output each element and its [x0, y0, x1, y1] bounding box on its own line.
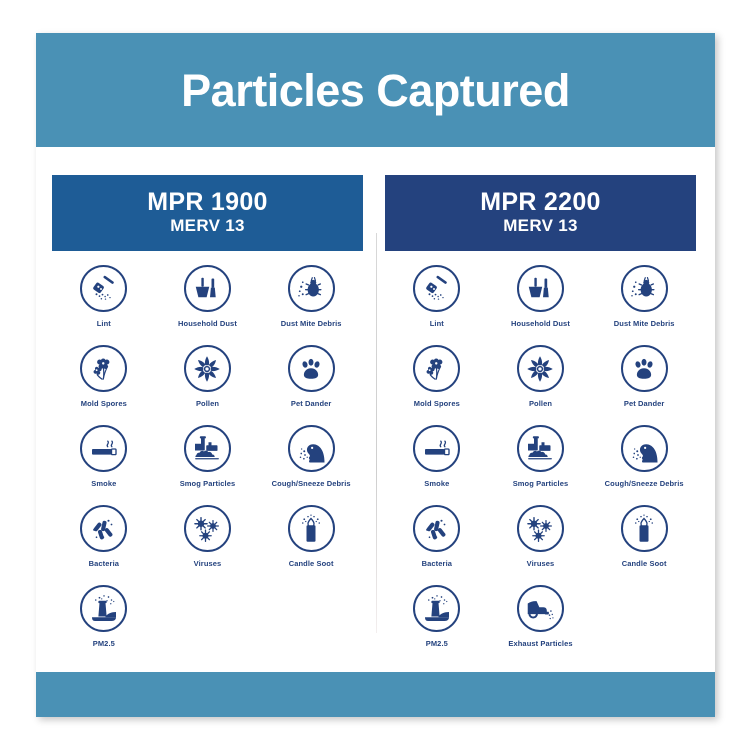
mpr-rating-label: MPR 1900 — [147, 189, 268, 215]
particle-label: Candle Soot — [289, 559, 334, 568]
particle-item: Smoke — [52, 425, 156, 502]
dust-mite-icon — [621, 265, 668, 312]
particle-label: Pet Dander — [624, 399, 665, 408]
particle-item: Dust Mite Debris — [592, 265, 696, 342]
particle-label: Bacteria — [89, 559, 119, 568]
particle-label: PM2.5 — [93, 639, 115, 648]
bacteria-icon — [80, 505, 127, 552]
particle-label: Mold Spores — [414, 399, 460, 408]
particle-item: Candle Soot — [259, 505, 363, 582]
particle-label: Cough/Sneeze Debris — [605, 479, 684, 488]
pollen-icon — [517, 345, 564, 392]
cough-sneeze-icon — [288, 425, 335, 472]
pm25-icon — [413, 585, 460, 632]
particle-label: Lint — [430, 319, 444, 328]
particle-item: Smog Particles — [489, 425, 593, 502]
footer-band — [36, 672, 715, 717]
column-mpr-1900: MPR 1900MERV 13LintHousehold DustDust Mi… — [52, 147, 363, 662]
particle-item: Candle Soot — [592, 505, 696, 582]
particle-label: Smoke — [424, 479, 449, 488]
particle-label: Pollen — [529, 399, 552, 408]
particle-item: Lint — [385, 265, 489, 342]
particle-label: Pet Dander — [291, 399, 332, 408]
particle-label: Smog Particles — [513, 479, 569, 488]
pet-dander-icon — [288, 345, 335, 392]
pollen-icon — [184, 345, 231, 392]
particle-label: Household Dust — [511, 319, 570, 328]
smog-icon — [517, 425, 564, 472]
pet-dander-icon — [621, 345, 668, 392]
mold-spores-icon — [80, 345, 127, 392]
columns-container: MPR 1900MERV 13LintHousehold DustDust Mi… — [36, 147, 715, 672]
particle-label: Smog Particles — [180, 479, 236, 488]
smoke-icon — [413, 425, 460, 472]
merv-rating-label: MERV 13 — [503, 215, 578, 237]
particle-item: Pet Dander — [592, 345, 696, 422]
column-header-mpr-1900: MPR 1900MERV 13 — [52, 175, 363, 251]
cough-sneeze-icon — [621, 425, 668, 472]
column-header-mpr-2200: MPR 2200MERV 13 — [385, 175, 696, 251]
lint-icon — [413, 265, 460, 312]
particle-item: Mold Spores — [385, 345, 489, 422]
particle-item: Household Dust — [156, 265, 260, 342]
exhaust-particles-icon — [517, 585, 564, 632]
household-dust-icon — [184, 265, 231, 312]
particle-item: Viruses — [489, 505, 593, 582]
particle-item: Exhaust Particles — [489, 585, 593, 662]
particle-item: Cough/Sneeze Debris — [259, 425, 363, 502]
particle-label: Cough/Sneeze Debris — [272, 479, 351, 488]
particle-label: Smoke — [91, 479, 116, 488]
particle-item: Bacteria — [385, 505, 489, 582]
column-mpr-2200: MPR 2200MERV 13LintHousehold DustDust Mi… — [385, 147, 696, 662]
particle-grid-mpr-1900: LintHousehold DustDust Mite DebrisMold S… — [52, 265, 363, 662]
viruses-icon — [184, 505, 231, 552]
particle-item: Pet Dander — [259, 345, 363, 422]
viruses-icon — [517, 505, 564, 552]
particle-label: Candle Soot — [622, 559, 667, 568]
particle-label: Viruses — [527, 559, 555, 568]
particle-label: Dust Mite Debris — [614, 319, 675, 328]
particle-label: Bacteria — [422, 559, 452, 568]
particle-item: Smoke — [385, 425, 489, 502]
particle-item: PM2.5 — [385, 585, 489, 662]
dust-mite-icon — [288, 265, 335, 312]
lint-icon — [80, 265, 127, 312]
infographic-canvas: Particles Captured MPR 1900MERV 13LintHo… — [0, 0, 750, 750]
bacteria-icon — [413, 505, 460, 552]
smog-icon — [184, 425, 231, 472]
particle-label: Viruses — [194, 559, 222, 568]
particle-item: Mold Spores — [52, 345, 156, 422]
candle-soot-icon — [621, 505, 668, 552]
particle-item: Dust Mite Debris — [259, 265, 363, 342]
particle-item: Pollen — [489, 345, 593, 422]
particle-label: Exhaust Particles — [508, 639, 572, 648]
particle-label: Dust Mite Debris — [281, 319, 342, 328]
particle-item: Viruses — [156, 505, 260, 582]
merv-rating-label: MERV 13 — [170, 215, 245, 237]
candle-soot-icon — [288, 505, 335, 552]
particle-item: Lint — [52, 265, 156, 342]
particle-item: Smog Particles — [156, 425, 260, 502]
particle-item: PM2.5 — [52, 585, 156, 662]
particle-item: Bacteria — [52, 505, 156, 582]
particle-label: Mold Spores — [81, 399, 127, 408]
particle-item: Household Dust — [489, 265, 593, 342]
mold-spores-icon — [413, 345, 460, 392]
particle-label: PM2.5 — [426, 639, 448, 648]
content-area: MPR 1900MERV 13LintHousehold DustDust Mi… — [36, 147, 715, 672]
particle-label: Household Dust — [178, 319, 237, 328]
particle-item: Cough/Sneeze Debris — [592, 425, 696, 502]
particle-label: Pollen — [196, 399, 219, 408]
smoke-icon — [80, 425, 127, 472]
particle-label: Lint — [97, 319, 111, 328]
particle-item: Pollen — [156, 345, 260, 422]
page-title: Particles Captured — [181, 68, 570, 113]
mpr-rating-label: MPR 2200 — [480, 189, 601, 215]
particle-grid-mpr-2200: LintHousehold DustDust Mite DebrisMold S… — [385, 265, 696, 662]
pm25-icon — [80, 585, 127, 632]
header-banner: Particles Captured — [36, 33, 715, 147]
household-dust-icon — [517, 265, 564, 312]
infographic-panel: Particles Captured MPR 1900MERV 13LintHo… — [36, 33, 715, 717]
